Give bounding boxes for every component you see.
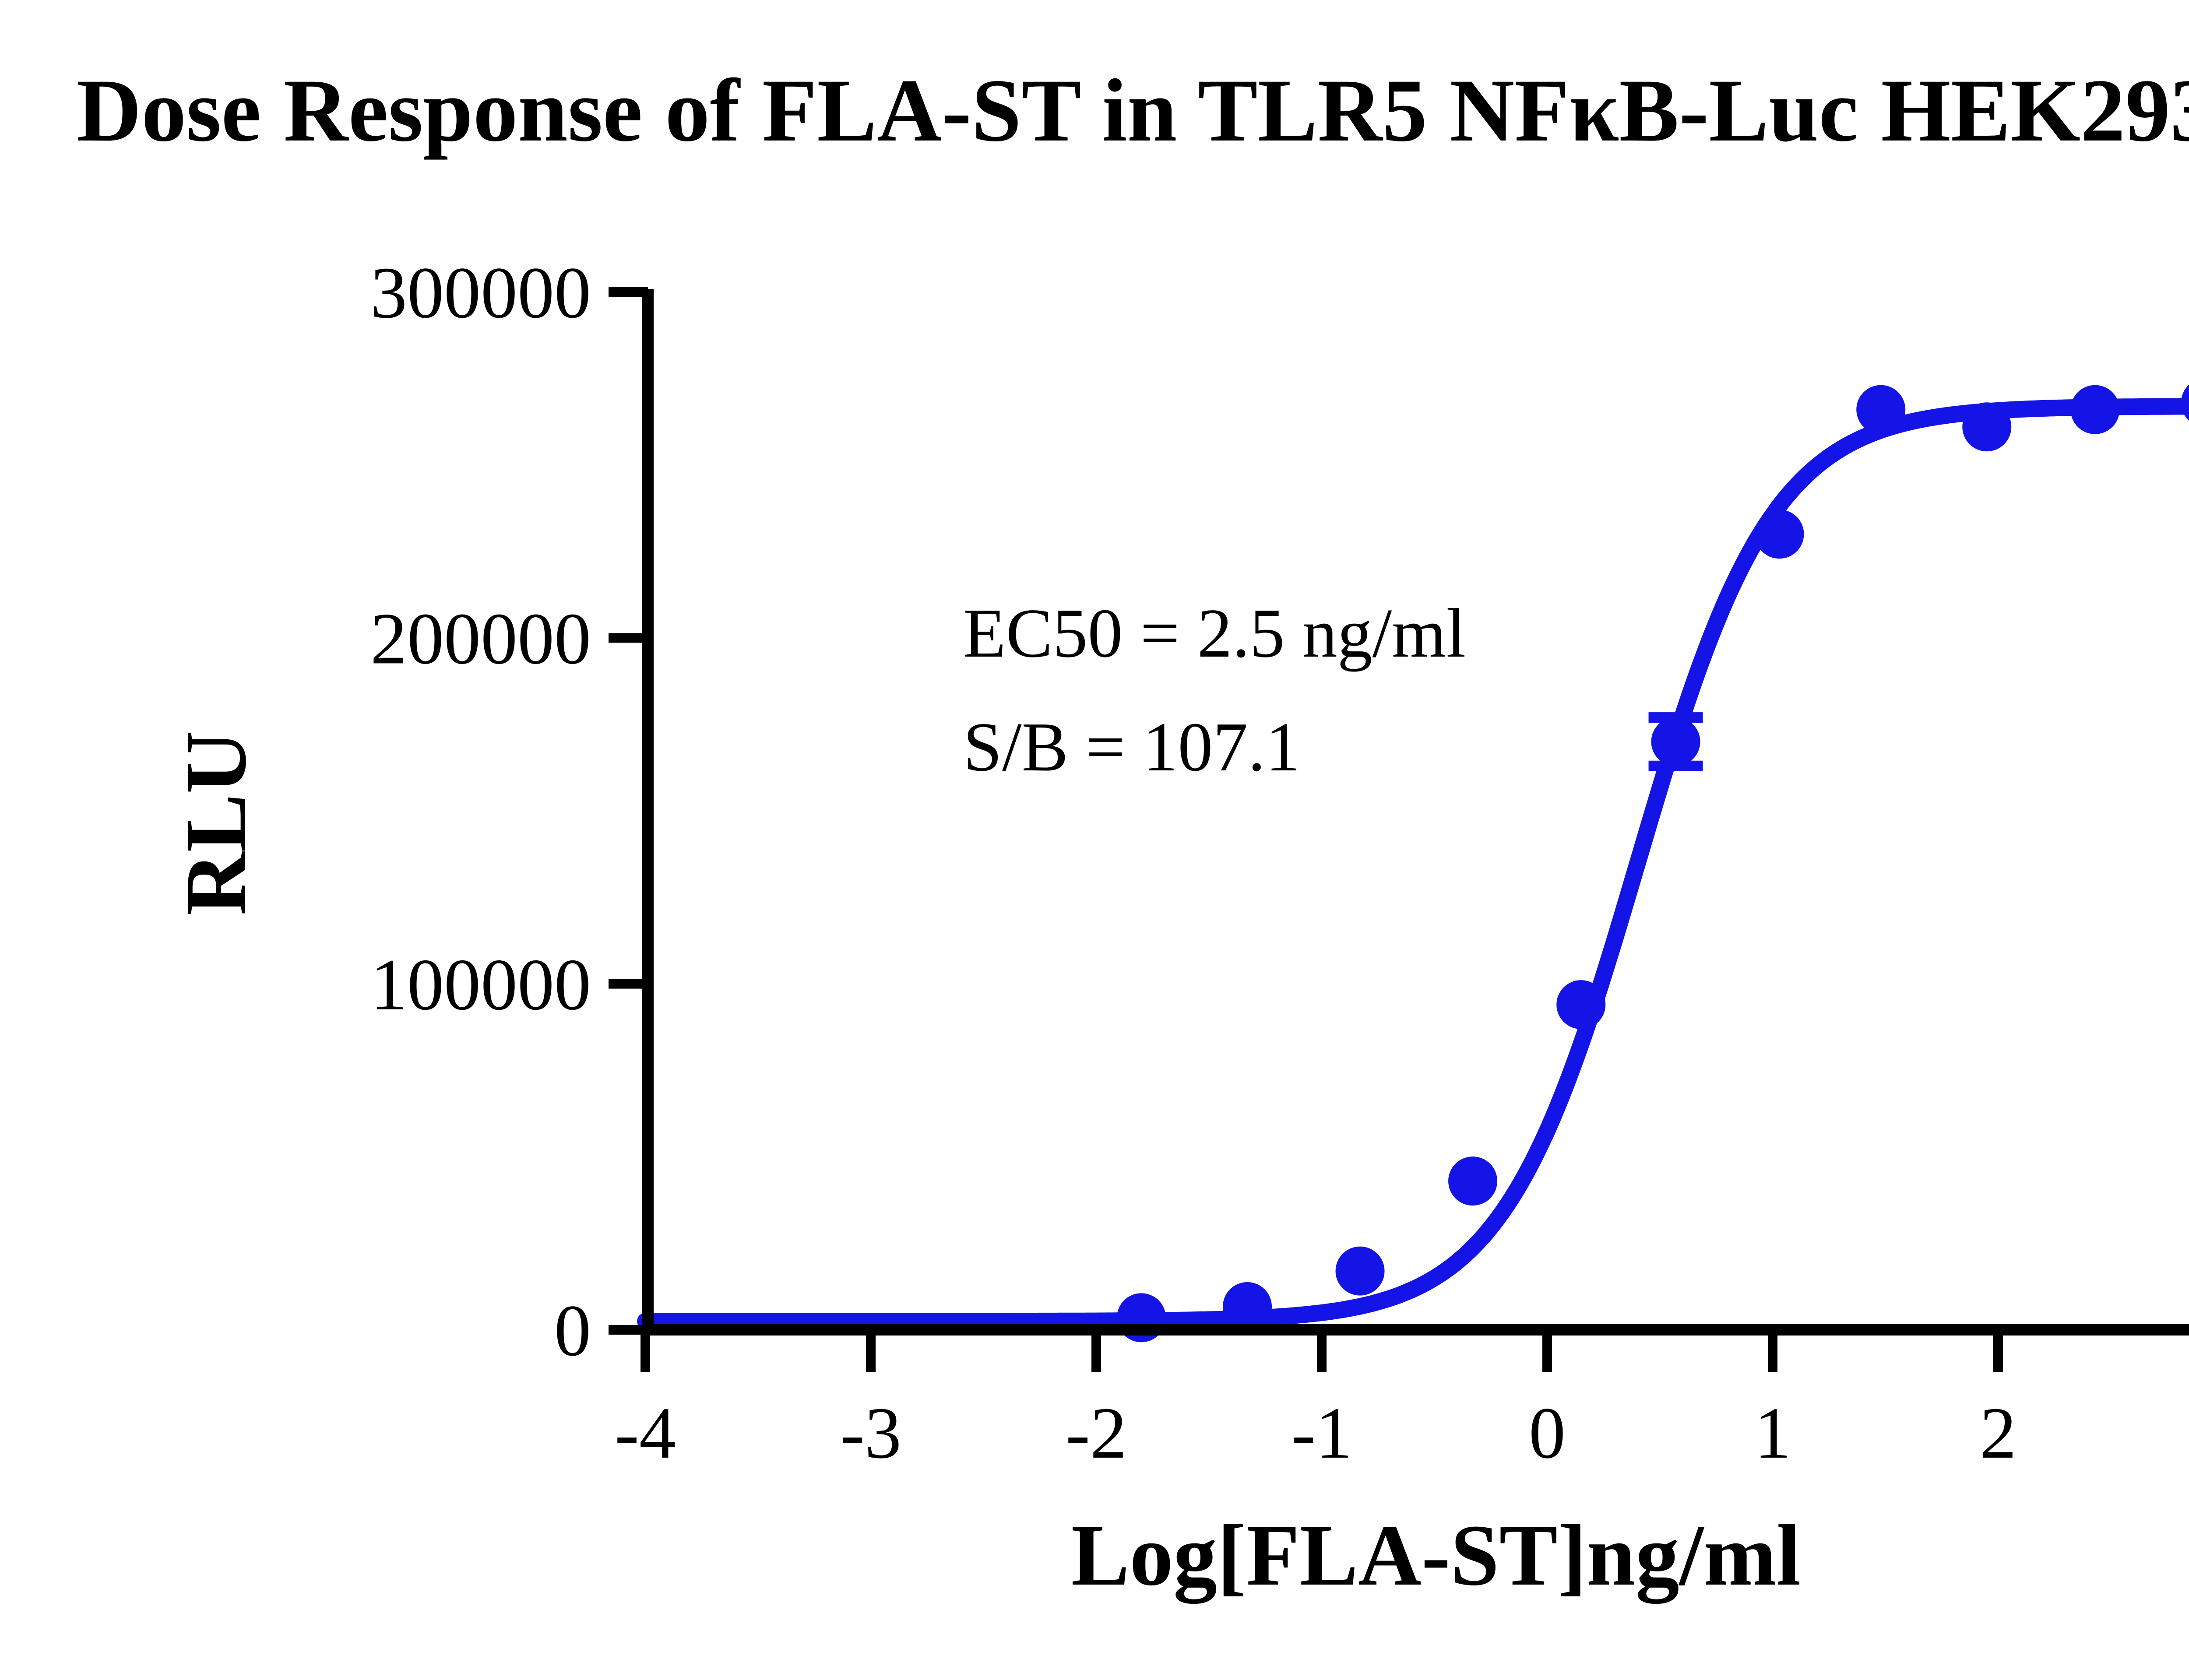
data-point [1856, 385, 1905, 434]
x-axis-tick-labels: -4-3-2-10123 [615, 1392, 2189, 1474]
y-axis-tick-labels: 0100000200000300000 [370, 252, 591, 1371]
y-tick-label: 300000 [370, 252, 591, 334]
data-point [1448, 1156, 1497, 1206]
data-point [2070, 385, 2119, 434]
data-point [1962, 402, 2011, 451]
x-tick-label: -1 [1291, 1392, 1352, 1474]
dose-response-chart: 0100000200000300000 -4-3-2-10123 RLU Log… [0, 0, 2189, 1680]
data-point [1651, 717, 1700, 766]
annotation-ec50: EC50 = 2.5 ng/ml [963, 594, 1466, 672]
y-tick-label: 100000 [370, 944, 591, 1026]
x-tick-label: 0 [1529, 1392, 1566, 1474]
x-tick-label: -3 [840, 1392, 901, 1474]
x-axis-ticks [645, 1330, 2189, 1372]
x-tick-label: 2 [1980, 1392, 2017, 1474]
x-tick-label: 1 [1754, 1392, 1791, 1474]
x-tick-label: -4 [615, 1392, 676, 1474]
data-point [1336, 1247, 1385, 1296]
plot-area-background [645, 271, 2189, 1335]
annotation-sb: S/B = 107.1 [963, 708, 1300, 786]
figure-root: Dose Response of FLA-ST in TLR5 NFκB-Luc… [0, 0, 2189, 1680]
data-point [1556, 980, 1605, 1029]
y-tick-label: 0 [554, 1290, 591, 1371]
y-axis-title: RLU [168, 731, 264, 915]
data-point [1223, 1282, 1272, 1331]
y-tick-label: 200000 [370, 598, 591, 679]
data-point [1755, 510, 1804, 559]
x-axis-title: Log[FLA-ST]ng/ml [1071, 1507, 1801, 1604]
x-tick-label: -2 [1066, 1392, 1127, 1474]
y-axis-ticks [609, 292, 648, 1330]
